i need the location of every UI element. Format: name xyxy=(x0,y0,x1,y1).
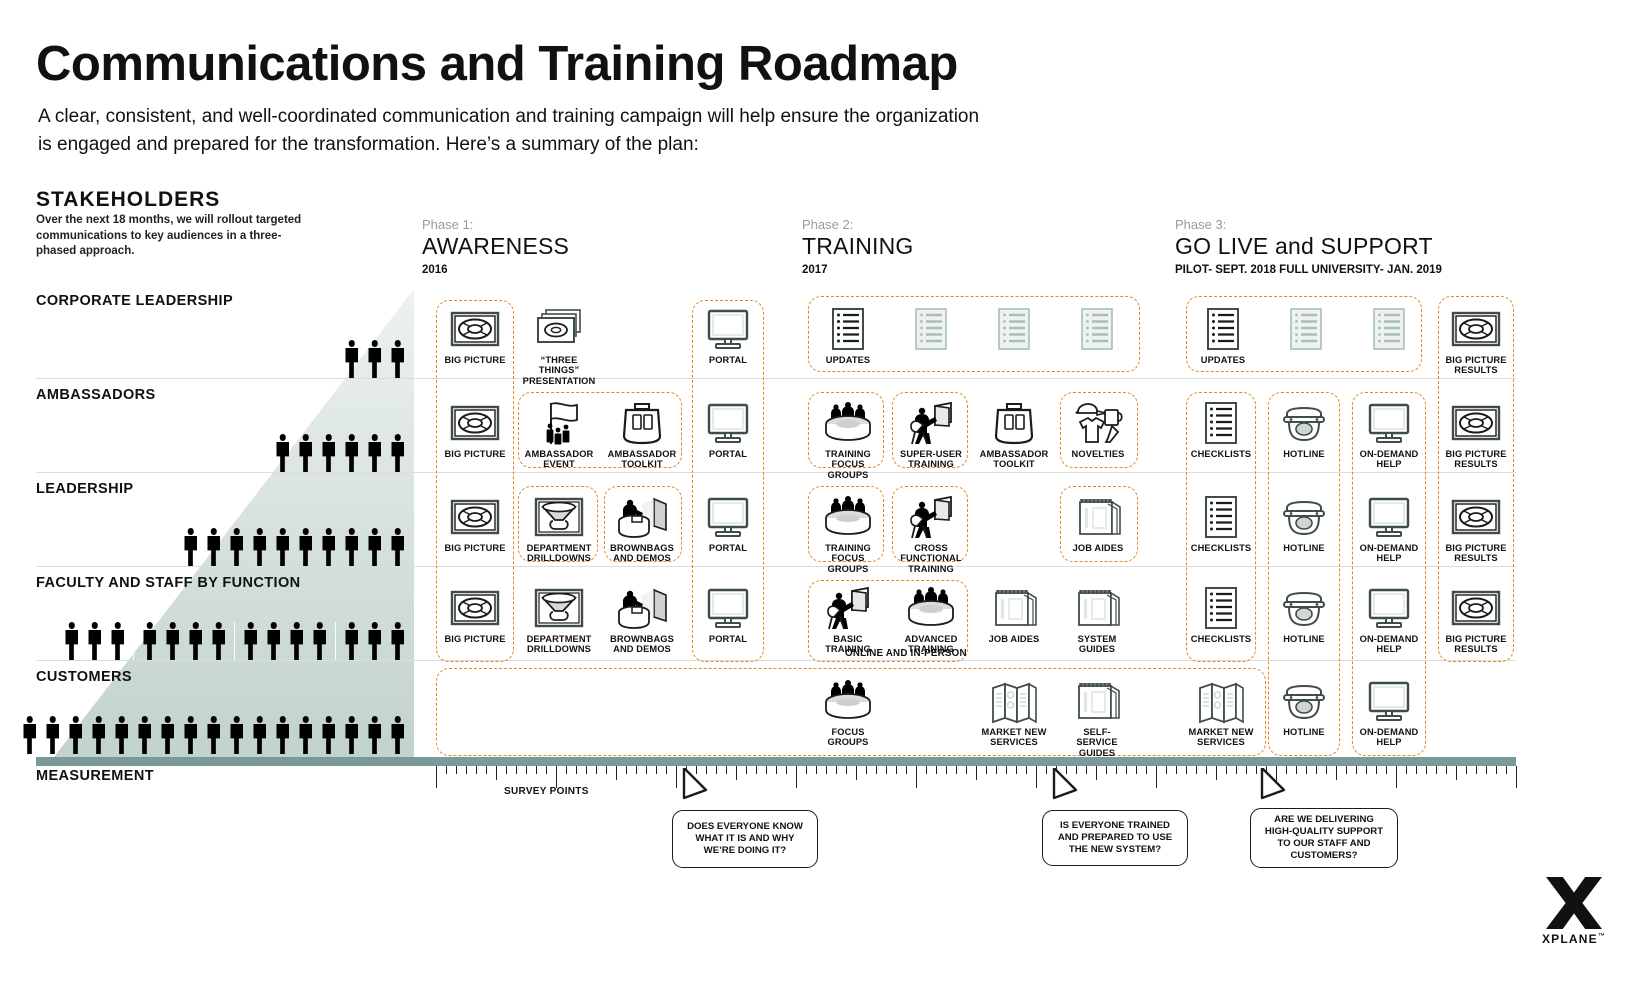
ruler-tick xyxy=(606,766,607,774)
ruler-tick xyxy=(1046,766,1047,774)
person-figure xyxy=(344,716,359,754)
cell-label: BIG PICTURERESULTS xyxy=(1445,355,1506,376)
bubble-tail-2 xyxy=(1050,768,1090,814)
checklist-faded-icon xyxy=(988,306,1040,352)
ruler-tick xyxy=(786,766,787,774)
cell-label: PORTAL xyxy=(709,355,747,365)
cell-label: BIG PICTURERESULTS xyxy=(1445,449,1506,470)
cell-label: “THREE THINGS”PRESENTATION xyxy=(523,355,596,386)
phase-header-1: Phase 1: AWARENESS 2016 xyxy=(422,217,569,277)
ruler-tick xyxy=(856,766,857,780)
phase-header-2: Phase 2: TRAINING 2017 xyxy=(802,217,914,277)
ruler-tick xyxy=(1466,766,1467,774)
people-row-corporate-leadership xyxy=(344,340,405,378)
cell-label: FOCUSGROUPS xyxy=(828,727,869,748)
person-figure xyxy=(183,716,198,754)
cell-label: MARKET NEWSERVICES xyxy=(1188,727,1253,748)
cell-ambassadors-hotline[interactable]: HOTLINE xyxy=(1270,400,1338,459)
checklist-icon xyxy=(822,306,874,352)
cell-label: CHECKLISTS xyxy=(1191,543,1251,553)
cell-label: BROWNBAGSAND DEMOS xyxy=(610,543,674,564)
person-figure xyxy=(367,434,382,472)
ruler-tick xyxy=(996,766,997,774)
monitor-icon xyxy=(1363,585,1415,631)
row-label-ambassadors: AMBASSADORS xyxy=(36,387,156,403)
focus-group-icon xyxy=(822,678,874,724)
novelties-icon xyxy=(1072,400,1124,446)
ruler-tick xyxy=(1126,766,1127,774)
person-figure xyxy=(390,716,405,754)
ruler-tick xyxy=(836,766,837,774)
flipbook-icon xyxy=(1072,494,1124,540)
ruler-tick xyxy=(1356,766,1357,774)
cell-label: ON-DEMANDHELP xyxy=(1360,543,1419,564)
ruler-tick xyxy=(756,766,757,774)
ruler-tick xyxy=(986,766,987,774)
cell-customers-focus-groups[interactable]: FOCUSGROUPS xyxy=(814,678,882,748)
cell-leadership-job-aides[interactable]: JOB AIDES xyxy=(1064,494,1132,553)
ruler-tick xyxy=(1496,766,1497,774)
cell-label: ON-DEMANDHELP xyxy=(1360,727,1419,748)
checklist-icon xyxy=(1195,494,1247,540)
ruler-tick xyxy=(536,766,537,774)
cell-label: AMBASSADORTOOLKIT xyxy=(608,449,677,470)
cell-label: MARKET NEWSERVICES xyxy=(981,727,1046,748)
cell-label: CHECKLISTS xyxy=(1191,449,1251,459)
person-figure xyxy=(165,622,180,660)
phase-3-dates: PILOT- SEPT. 2018 FULL UNIVERSITY- JAN. … xyxy=(1175,263,1442,277)
ruler-tick xyxy=(1376,766,1377,774)
cell-label: SUPER-USERTRAINING xyxy=(900,449,962,470)
phase-1-number: Phase 1: xyxy=(422,217,569,232)
cell-faculty-staff-big-picture[interactable]: BIG PICTURE xyxy=(441,585,509,644)
ruler-tick xyxy=(636,766,637,774)
cell-label: SYSTEMGUIDES xyxy=(1078,634,1117,655)
ruler-tick xyxy=(906,766,907,774)
focus-group-icon xyxy=(822,400,874,446)
people-separator xyxy=(234,622,235,660)
monitor-icon xyxy=(702,400,754,446)
ruler-tick xyxy=(1486,766,1487,774)
monitor-icon xyxy=(702,494,754,540)
ruler-tick xyxy=(566,766,567,774)
person-figure xyxy=(160,716,175,754)
cell-label: AMBASSADORTOOLKIT xyxy=(980,449,1049,470)
person-figure xyxy=(390,434,405,472)
person-figure xyxy=(344,340,359,378)
person-figure xyxy=(344,528,359,566)
ruler-tick xyxy=(556,766,557,788)
cell-faculty-staff-job-aides[interactable]: JOB AIDES xyxy=(980,585,1048,644)
phase-1-name: AWARENESS xyxy=(422,233,569,260)
cell-leadership-portal[interactable]: PORTAL xyxy=(694,494,762,553)
cell-label: BIG PICTURE xyxy=(444,449,505,459)
cell-label: UPDATES xyxy=(1201,355,1245,365)
ruler-tick xyxy=(496,766,497,780)
ruler-tick xyxy=(616,766,617,780)
cell-faculty-staff-hotline[interactable]: HOTLINE xyxy=(1270,585,1338,644)
ruler-tick xyxy=(1316,766,1317,774)
person-figure xyxy=(137,716,152,754)
phase-header-3: Phase 3: GO LIVE and SUPPORT PILOT- SEPT… xyxy=(1175,217,1442,277)
drilldown-icon xyxy=(533,585,585,631)
person-figure xyxy=(91,716,106,754)
checklist-faded-icon xyxy=(905,306,957,352)
cell-ambassadors-ambassador-event[interactable]: AMBASSADOREVENT xyxy=(525,400,593,470)
ruler-tick xyxy=(1416,766,1417,774)
ruler-tick xyxy=(1326,766,1327,774)
row-label-leadership: LEADERSHIP xyxy=(36,481,133,497)
person-figure xyxy=(211,622,226,660)
ruler-tick xyxy=(1226,766,1227,774)
cell-faculty-staff-big-picture-results[interactable]: BIG PICTURERESULTS xyxy=(1442,585,1510,655)
big-picture-icon xyxy=(449,400,501,446)
person-computer-icon xyxy=(822,585,874,631)
person-figure xyxy=(266,622,281,660)
ruler-tick xyxy=(476,766,477,774)
cell-leadership-checklists[interactable]: CHECKLISTS xyxy=(1187,494,1255,553)
cell-label: PORTAL xyxy=(709,543,747,553)
ruler-tick xyxy=(1176,766,1177,774)
presenter-screen-icon xyxy=(616,494,668,540)
ruler-tick xyxy=(946,766,947,774)
ruler-tick xyxy=(1186,766,1187,774)
cell-label: BIG PICTURERESULTS xyxy=(1445,634,1506,655)
cell-label: BIG PICTURE xyxy=(444,634,505,644)
ruler-tick xyxy=(546,766,547,774)
xplane-logo: XPLANE™ xyxy=(1536,877,1612,949)
cell-label: DEPARTMENTDRILLDOWNS xyxy=(527,634,592,655)
ruler-tick xyxy=(646,766,647,774)
cell-label: PORTAL xyxy=(709,634,747,644)
ruler-tick xyxy=(1366,766,1367,774)
survey-question-1: DOES EVERYONE KNOW WHAT IT IS AND WHY WE… xyxy=(672,810,818,868)
checklist-faded-icon xyxy=(1071,306,1123,352)
cell-label: UPDATES xyxy=(826,355,870,365)
ruler-tick xyxy=(896,766,897,774)
page-title: Communications and Training Roadmap xyxy=(36,36,958,92)
bubble-tail-1 xyxy=(680,768,720,814)
ruler-tick xyxy=(726,766,727,774)
person-figure xyxy=(206,528,221,566)
cell-label: ON-DEMANDHELP xyxy=(1360,634,1419,655)
cell-faculty-staff-advanced-training[interactable]: ADVANCEDTRAINING xyxy=(897,585,965,655)
phone-icon xyxy=(1278,400,1330,446)
cell-customers-hotline[interactable]: HOTLINE xyxy=(1270,678,1338,737)
cell-corporate-leadership-checklist-faded-icon[interactable] xyxy=(1272,306,1340,355)
cell-corporate-leadership-updates[interactable]: UPDATES xyxy=(1189,306,1257,365)
ruler-tick xyxy=(626,766,627,774)
people-separator xyxy=(335,622,336,660)
cell-label: JOB AIDES xyxy=(1073,543,1124,553)
ruler-tick xyxy=(486,766,487,774)
cell-leadership-brownbags-and-demos[interactable]: BROWNBAGSAND DEMOS xyxy=(608,494,676,564)
person-figure xyxy=(183,528,198,566)
cell-leadership-hotline[interactable]: HOTLINE xyxy=(1270,494,1338,553)
cell-ambassadors-checklists[interactable]: CHECKLISTS xyxy=(1187,400,1255,459)
person-figure xyxy=(298,434,313,472)
big-picture-icon xyxy=(1450,400,1502,446)
cell-faculty-staff-checklists[interactable]: CHECKLISTS xyxy=(1187,585,1255,644)
ruler-tick xyxy=(1196,766,1197,774)
big-picture-icon xyxy=(449,585,501,631)
cell-ambassadors-ambassador-toolkit[interactable]: AMBASSADORTOOLKIT xyxy=(980,400,1048,470)
brochure-icon xyxy=(1195,678,1247,724)
ruler-tick xyxy=(1006,766,1007,774)
ruler-tick xyxy=(1136,766,1137,774)
survey-question-2: IS EVERYONE TRAINED AND PREPARED TO USE … xyxy=(1042,810,1188,866)
person-figure xyxy=(298,528,313,566)
person-figure xyxy=(390,528,405,566)
cell-label: PORTAL xyxy=(709,449,747,459)
cell-customers-on-demand-help[interactable]: ON-DEMANDHELP xyxy=(1355,678,1423,748)
person-figure xyxy=(367,528,382,566)
page-subtitle: A clear, consistent, and well-coordinate… xyxy=(38,103,988,158)
person-figure xyxy=(321,528,336,566)
cell-label: TRAININGFOCUSGROUPS xyxy=(825,449,871,480)
ruler-tick xyxy=(976,766,977,780)
ruler-tick xyxy=(936,766,937,774)
cell-label: AMBASSADOREVENT xyxy=(525,449,594,470)
trademark-symbol: ™ xyxy=(1598,933,1606,940)
person-figure xyxy=(321,434,336,472)
cell-leadership-on-demand-help[interactable]: ON-DEMANDHELP xyxy=(1355,494,1423,564)
xplane-wordmark: XPLANE™ xyxy=(1536,932,1612,946)
cell-ambassadors-super-user-training[interactable]: SUPER-USERTRAINING xyxy=(897,400,965,470)
ruler-tick xyxy=(1246,766,1247,774)
cell-leadership-cross-functional-training[interactable]: CROSSFUNCTIONALTRAINING xyxy=(897,494,965,574)
measurement-ruler xyxy=(436,766,1516,792)
ruler-tick xyxy=(1516,766,1517,788)
cell-leadership-training-focus-groups[interactable]: TRAININGFOCUSGROUPS xyxy=(814,494,882,574)
cell-label: HOTLINE xyxy=(1283,449,1325,459)
phase-2-number: Phase 2: xyxy=(802,217,914,232)
cell-ambassadors-ambassador-toolkit[interactable]: AMBASSADORTOOLKIT xyxy=(608,400,676,470)
cell-faculty-staff-portal[interactable]: PORTAL xyxy=(694,585,762,644)
big-picture-icon xyxy=(449,306,501,352)
ruler-tick xyxy=(876,766,877,774)
ruler-tick xyxy=(1166,766,1167,774)
cell-leadership-department-drilldowns[interactable]: DEPARTMENTDRILLDOWNS xyxy=(525,494,593,564)
toolkit-bag-icon xyxy=(616,400,668,446)
big-picture-icon xyxy=(1450,585,1502,631)
brochure-icon xyxy=(988,678,1040,724)
checklist-faded-icon xyxy=(1280,306,1332,352)
ruler-tick xyxy=(506,766,507,774)
person-figure xyxy=(367,340,382,378)
ruler-tick xyxy=(1096,766,1097,780)
ruler-tick xyxy=(656,766,657,774)
ruler-tick xyxy=(1156,766,1157,788)
big-picture-icon xyxy=(1450,306,1502,352)
cell-corporate-leadership-three-things-presentation[interactable]: “THREE THINGS”PRESENTATION xyxy=(525,306,593,386)
person-figure xyxy=(344,434,359,472)
ruler-tick xyxy=(1256,766,1257,774)
cell-label: BIG PICTURE xyxy=(444,355,505,365)
cell-faculty-staff-basic-training[interactable]: BASICTRAINING xyxy=(814,585,882,655)
ruler-tick xyxy=(1446,766,1447,774)
ruler-tick xyxy=(1386,766,1387,774)
faculty-staff-note: ONLINE AND IN-PERSON xyxy=(845,648,967,659)
cell-faculty-staff-department-drilldowns[interactable]: DEPARTMENTDRILLDOWNS xyxy=(525,585,593,655)
phone-icon xyxy=(1278,585,1330,631)
phase-1-dates: 2016 xyxy=(422,263,569,277)
ruler-tick xyxy=(1106,766,1107,774)
person-figure xyxy=(87,622,102,660)
cell-ambassadors-portal[interactable]: PORTAL xyxy=(694,400,762,459)
cell-label: SELF-SERVICEGUIDES xyxy=(1063,727,1131,758)
ruler-tick xyxy=(1206,766,1207,774)
checklist-faded-icon xyxy=(1363,306,1415,352)
baseline-bar xyxy=(36,757,1516,766)
ruler-tick xyxy=(666,766,667,774)
person-figure xyxy=(142,622,157,660)
ruler-tick xyxy=(886,766,887,774)
ruler-tick xyxy=(1146,766,1147,774)
person-figure xyxy=(243,622,258,660)
ruler-tick xyxy=(1336,766,1337,780)
person-figure xyxy=(229,716,244,754)
ruler-tick xyxy=(586,766,587,774)
person-figure xyxy=(22,716,37,754)
ruler-tick xyxy=(1306,766,1307,774)
flipbook-icon xyxy=(1071,585,1123,631)
monitor-icon xyxy=(1363,678,1415,724)
phase-3-number: Phase 3: xyxy=(1175,217,1442,232)
cell-customers-market-new-services[interactable]: MARKET NEWSERVICES xyxy=(980,678,1048,748)
person-figure xyxy=(344,622,359,660)
person-figure xyxy=(390,622,405,660)
cell-label: CROSSFUNCTIONALTRAINING xyxy=(900,543,961,574)
ruler-tick xyxy=(1476,766,1477,774)
ruler-tick xyxy=(816,766,817,774)
ruler-tick xyxy=(1036,766,1037,788)
cell-faculty-staff-on-demand-help[interactable]: ON-DEMANDHELP xyxy=(1355,585,1423,655)
ruler-tick xyxy=(846,766,847,774)
cell-customers-market-new-services[interactable]: MARKET NEWSERVICES xyxy=(1187,678,1255,748)
row-divider xyxy=(36,378,1516,379)
cell-corporate-leadership-updates[interactable]: UPDATES xyxy=(814,306,882,365)
cell-corporate-leadership-checklist-faded-icon[interactable] xyxy=(1063,306,1131,355)
person-figure xyxy=(188,622,203,660)
drilldown-icon xyxy=(533,494,585,540)
checklist-icon xyxy=(1195,400,1247,446)
cell-leadership-big-picture[interactable]: BIG PICTURE xyxy=(441,494,509,553)
flag-people-icon xyxy=(533,400,585,446)
ruler-tick xyxy=(966,766,967,774)
ruler-tick xyxy=(806,766,807,774)
ruler-tick xyxy=(796,766,797,788)
survey-points-label: SURVEY POINTS xyxy=(504,786,589,797)
person-figure xyxy=(45,716,60,754)
cell-ambassadors-on-demand-help[interactable]: ON-DEMANDHELP xyxy=(1355,400,1423,470)
monitor-icon xyxy=(702,306,754,352)
person-computer-icon xyxy=(905,494,957,540)
cell-customers-self-service-guides[interactable]: SELF-SERVICEGUIDES xyxy=(1063,678,1131,758)
phone-icon xyxy=(1278,678,1330,724)
person-figure xyxy=(252,528,267,566)
cell-faculty-staff-brownbags-and-demos[interactable]: BROWNBAGSAND DEMOS xyxy=(608,585,676,655)
ruler-tick xyxy=(866,766,867,774)
person-figure xyxy=(298,716,313,754)
cell-corporate-leadership-big-picture-results[interactable]: BIG PICTURERESULTS xyxy=(1442,306,1510,376)
stakeholders-description: Over the next 18 months, we will rollout… xyxy=(36,213,306,260)
ruler-tick xyxy=(1116,766,1117,774)
person-figure xyxy=(229,528,244,566)
ruler-tick xyxy=(956,766,957,774)
person-figure xyxy=(64,622,79,660)
cell-label: BIG PICTURERESULTS xyxy=(1445,543,1506,564)
cell-corporate-leadership-checklist-faded-icon[interactable] xyxy=(980,306,1048,355)
cell-corporate-leadership-checklist-faded-icon[interactable] xyxy=(897,306,965,355)
ruler-tick xyxy=(1016,766,1017,774)
cell-ambassadors-training-focus-groups[interactable]: TRAININGFOCUSGROUPS xyxy=(814,400,882,480)
person-figure xyxy=(275,716,290,754)
person-figure xyxy=(275,528,290,566)
person-figure xyxy=(68,716,83,754)
ruler-tick xyxy=(676,766,677,788)
people-row-customers xyxy=(22,716,405,754)
cell-label: NOVELTIES xyxy=(1072,449,1125,459)
slide-stack-icon xyxy=(533,306,585,352)
cell-label: HOTLINE xyxy=(1283,727,1325,737)
presenter-screen-icon xyxy=(616,585,668,631)
person-figure xyxy=(110,622,125,660)
xplane-wordmark-text: XPLANE xyxy=(1542,932,1598,946)
person-figure xyxy=(367,716,382,754)
person-figure xyxy=(275,434,290,472)
ruler-tick xyxy=(1406,766,1407,774)
monitor-icon xyxy=(1363,494,1415,540)
monitor-icon xyxy=(702,585,754,631)
cell-ambassadors-novelties[interactable]: NOVELTIES xyxy=(1064,400,1132,459)
people-separator xyxy=(133,622,134,660)
cell-label: ON-DEMANDHELP xyxy=(1360,449,1419,470)
cell-corporate-leadership-big-picture[interactable]: BIG PICTURE xyxy=(441,306,509,365)
ruler-tick xyxy=(446,766,447,774)
cell-ambassadors-big-picture[interactable]: BIG PICTURE xyxy=(441,400,509,459)
cell-label: HOTLINE xyxy=(1283,543,1325,553)
cell-faculty-staff-system-guides[interactable]: SYSTEMGUIDES xyxy=(1063,585,1131,655)
person-figure xyxy=(367,622,382,660)
row-label-customers: CUSTOMERS xyxy=(36,669,132,685)
cell-corporate-leadership-portal[interactable]: PORTAL xyxy=(694,306,762,365)
toolkit-bag-icon xyxy=(988,400,1040,446)
person-figure xyxy=(321,716,336,754)
person-figure xyxy=(312,622,327,660)
ruler-tick xyxy=(436,766,437,788)
cell-ambassadors-big-picture-results[interactable]: BIG PICTURERESULTS xyxy=(1442,400,1510,470)
measurement-label: MEASUREMENT xyxy=(36,768,154,784)
person-computer-icon xyxy=(905,400,957,446)
ruler-tick xyxy=(776,766,777,774)
phone-icon xyxy=(1278,494,1330,540)
cell-label: HOTLINE xyxy=(1283,634,1325,644)
people-row-faculty-and-staff xyxy=(64,622,405,660)
cell-leadership-big-picture-results[interactable]: BIG PICTURERESULTS xyxy=(1442,494,1510,564)
cell-label: TRAININGFOCUSGROUPS xyxy=(825,543,871,574)
person-figure xyxy=(289,622,304,660)
stakeholders-heading: STAKEHOLDERS xyxy=(36,188,220,212)
cell-corporate-leadership-checklist-faded-icon[interactable] xyxy=(1355,306,1423,355)
ruler-tick xyxy=(526,766,527,774)
focus-group-icon xyxy=(905,585,957,631)
ruler-tick xyxy=(516,766,517,774)
people-row-leadership xyxy=(183,528,405,566)
big-picture-icon xyxy=(1450,494,1502,540)
person-figure xyxy=(390,340,405,378)
ruler-tick xyxy=(1396,766,1397,788)
